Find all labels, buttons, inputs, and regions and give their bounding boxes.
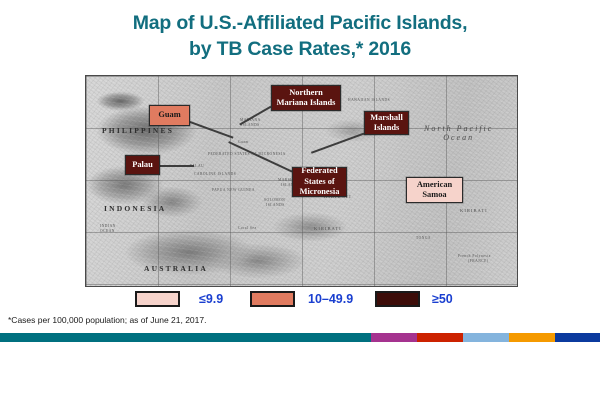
legend-label-mid: 10–49.9 [308,292,353,306]
legend-item-high: ≥50 [375,291,453,307]
callout-marshall-islands-line-1: Marshall [370,113,403,124]
callout-guam: Guam [149,105,190,126]
callout-american-samoa: AmericanSamoa [406,177,463,203]
callout-palau: Palau [125,155,160,175]
legend-item-mid: 10–49.9 [250,291,353,307]
legend-label-low: ≤9.9 [199,292,223,306]
page-title-line-2: by TB Case Rates,* 2016 [0,36,600,62]
bottom-bar-segment-orange [509,333,555,342]
bottom-bar-segment-dark-blue [555,333,600,342]
callout-american-samoa-line-1: American [417,180,452,191]
map-legend: ≤9.910–49.9≥50 [0,288,600,312]
callout-northern-mariana-islands: NorthernMariana Islands [271,85,341,111]
legend-swatch-mid [250,291,295,307]
callout-federated-states-of-micronesia: FederatedStates ofMicronesia [292,167,347,197]
callout-federated-states-of-micronesia-line-2: States of [300,177,340,188]
legend-swatch-low [135,291,180,307]
legend-label-high: ≥50 [432,292,453,306]
callout-american-samoa-line-2: Samoa [417,190,452,201]
legend-swatch-high [375,291,420,307]
callout-federated-states-of-micronesia-line-1: Federated [300,166,340,177]
callout-northern-mariana-islands-line-2: Mariana Islands [277,98,336,109]
callout-federated-states-of-micronesia-line-3: Micronesia [300,187,340,198]
bottom-bar-segment-red [417,333,463,342]
callout-marshall-islands-line-2: Islands [370,123,403,134]
bottom-bar-segment-light-blue [463,333,509,342]
callout-marshall-islands: MarshallIslands [364,111,409,135]
callout-guam-line-1: Guam [158,110,180,121]
page-title-line-1: Map of U.S.-Affiliated Pacific Islands, [0,10,600,36]
bottom-bar-segment-teal [0,333,371,342]
pacific-islands-map: PHILIPPINESINDONESIAAUSTRALIAKIRIBATIKIR… [85,75,518,287]
bottom-bar-segment-purple [371,333,417,342]
legend-item-low: ≤9.9 [135,291,223,307]
footnote: *Cases per 100,000 population; as of Jun… [8,315,206,325]
callout-northern-mariana-islands-line-1: Northern [277,88,336,99]
bottom-color-bar [0,333,600,342]
page-title: Map of U.S.-Affiliated Pacific Islands, … [0,10,600,62]
callout-palau-line-1: Palau [132,160,152,171]
